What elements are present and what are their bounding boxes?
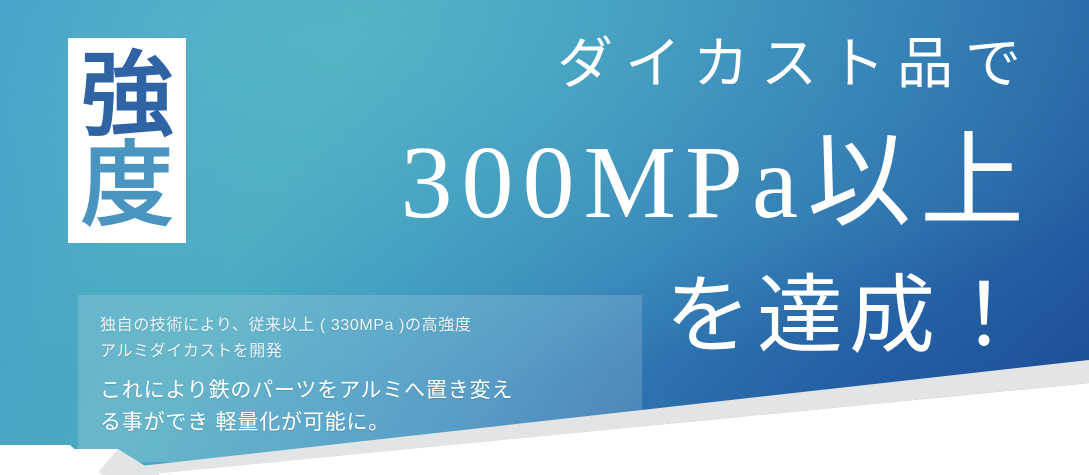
description-small: 独自の技術により、従来以上 ( 330MPa )の高強度 アルミダイカストを開発 — [100, 313, 642, 365]
strength-badge: 強 度 — [68, 38, 186, 243]
description-large: これにより鉄のパーツをアルミへ置き変え る事ができ 軽量化が可能に。 — [100, 375, 642, 440]
description-small-line-1: 独自の技術により、従来以上 ( 330MPa )の高強度 — [100, 317, 471, 334]
badge-kanji-top: 強 — [81, 51, 173, 140]
description-small-line-2: アルミダイカストを開発 — [100, 343, 282, 360]
badge-kanji-bottom: 度 — [81, 141, 173, 230]
description-large-line-1: これにより鉄のパーツをアルミへ置き変え — [100, 379, 513, 402]
promo-banner: 強 度 ダイカスト品で 300MPa以上 を達成！ 独自の技術により、従来以上 … — [0, 0, 1089, 475]
description-panel: 独自の技術により、従来以上 ( 330MPa )の高強度 アルミダイカストを開発… — [78, 295, 642, 462]
description-large-line-2: る事ができ 軽量化が可能に。 — [100, 411, 390, 434]
